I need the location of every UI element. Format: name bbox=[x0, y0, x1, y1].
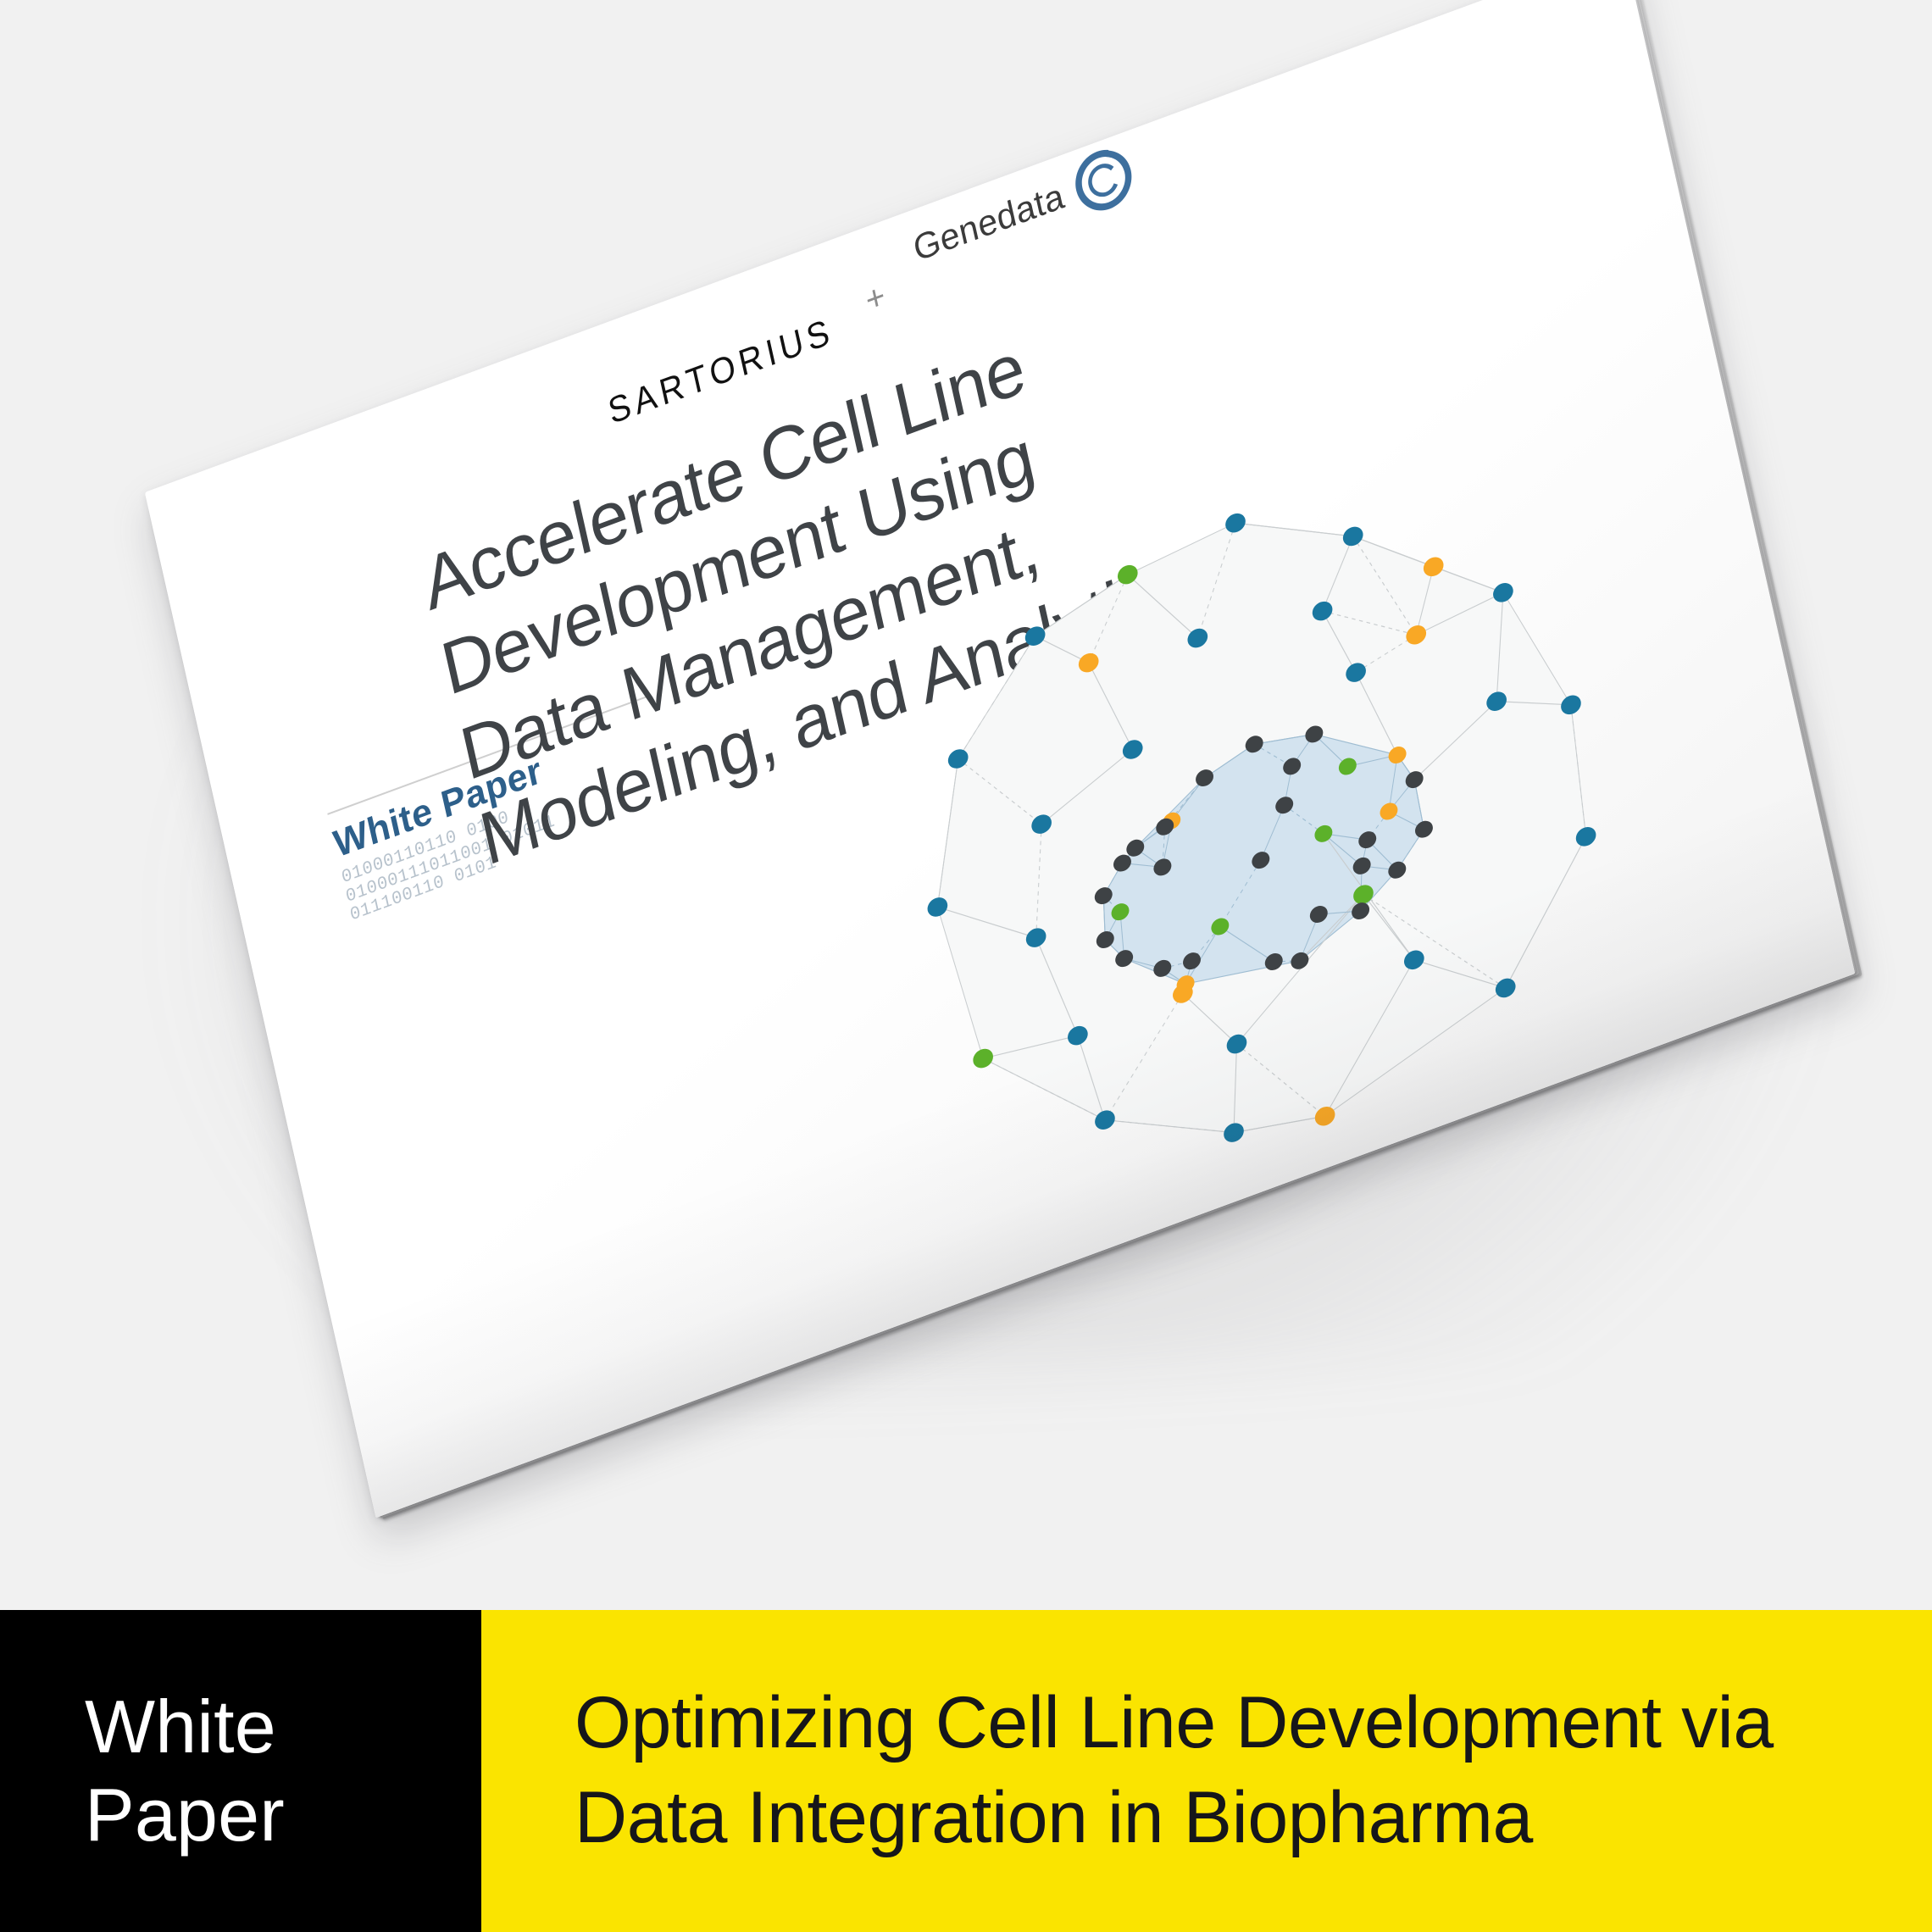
screenshot-root: SARTORIUS + Genedata White Paper bbox=[0, 0, 1932, 1932]
genedata-wordmark: Genedata bbox=[909, 175, 1068, 269]
logo-plus-separator: + bbox=[863, 278, 889, 318]
banner-headline: Optimizing Cell Line Development via Dat… bbox=[575, 1676, 1932, 1866]
bottom-banner: White Paper Optimizing Cell Line Develop… bbox=[0, 1610, 1932, 1932]
genedata-logo: Genedata bbox=[907, 136, 1142, 283]
banner-headline-block: Optimizing Cell Line Development via Dat… bbox=[481, 1610, 1932, 1932]
booklet-mockup: SARTORIUS + Genedata White Paper bbox=[0, 0, 1932, 1610]
banner-white-paper-label: White Paper bbox=[85, 1683, 481, 1859]
banner-label-block: White Paper bbox=[0, 1610, 481, 1932]
genedata-spiral-c-icon bbox=[1066, 136, 1142, 225]
